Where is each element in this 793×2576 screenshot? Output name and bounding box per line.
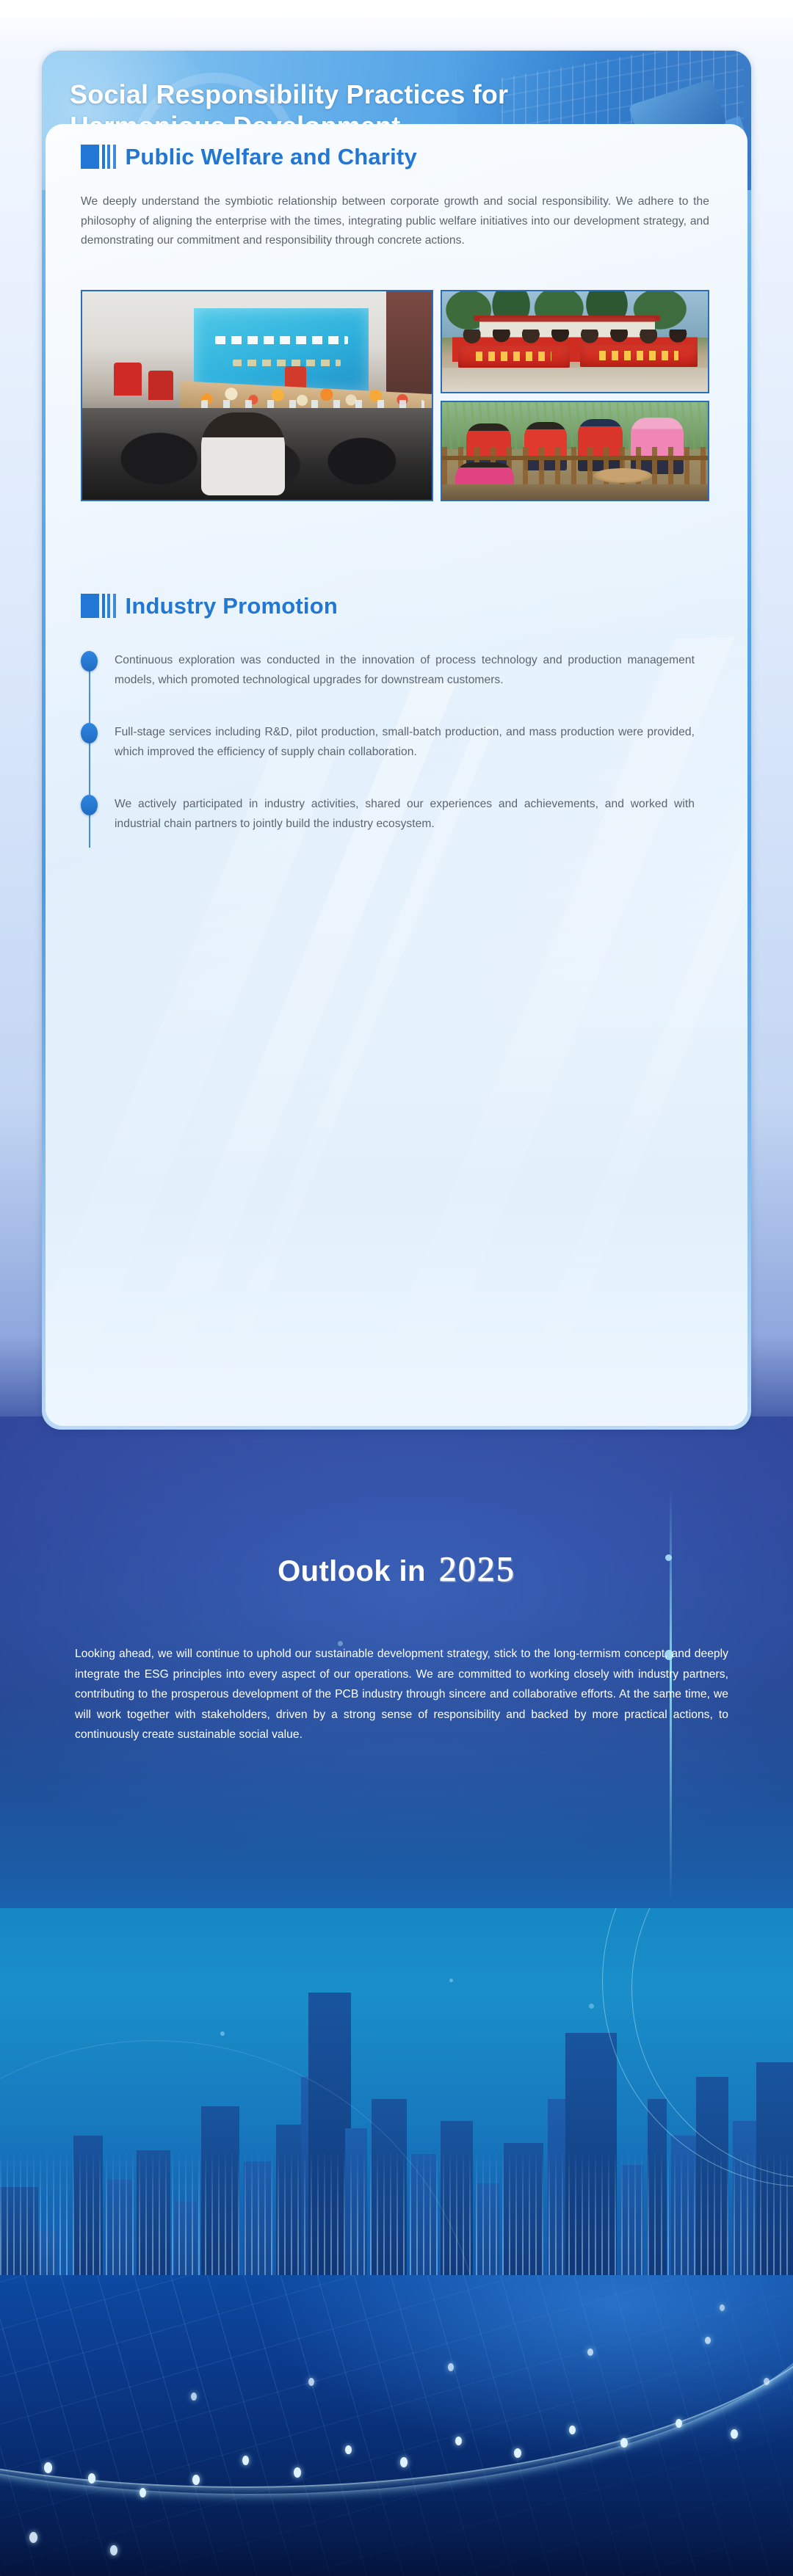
outlook-paragraph: Looking ahead, we will continue to uphol… (75, 1644, 728, 1745)
poster-page: Social Responsibility Practices for Harm… (0, 0, 793, 2576)
section-title-industry-promotion: Industry Promotion (126, 594, 338, 618)
photo-charity-event (81, 290, 433, 501)
bar-block-icon (81, 594, 116, 618)
bar-block-icon (81, 145, 116, 169)
content-panel: Public Welfare and Charity We deeply und… (46, 124, 747, 1426)
section-heading-industry-promotion: Industry Promotion (81, 594, 338, 618)
bullet-dot-icon (81, 723, 98, 743)
industry-promotion-bullets: Continuous exploration was conducted in … (81, 651, 709, 858)
bullet-dot-icon (81, 795, 98, 815)
background-mesh-wave (0, 2275, 793, 2576)
photo-volunteer-planting (441, 401, 709, 501)
photo-volunteer-group (441, 290, 709, 393)
section-title-public-welfare: Public Welfare and Charity (126, 145, 417, 169)
section-heading-public-welfare: Public Welfare and Charity (81, 145, 417, 169)
list-item: Continuous exploration was conducted in … (81, 651, 709, 690)
bullet-text: We actively participated in industry act… (115, 795, 695, 834)
bullet-text: Full-stage services including R&D, pilot… (115, 723, 695, 762)
outlook-heading: Outlook in 2025 (0, 1549, 793, 1590)
public-welfare-paragraph: We deeply understand the symbiotic relat… (81, 192, 709, 251)
photo-grid (81, 290, 709, 501)
list-item: We actively participated in industry act… (81, 795, 709, 834)
list-item: Full-stage services including R&D, pilot… (81, 723, 709, 762)
bullet-text: Continuous exploration was conducted in … (115, 651, 695, 690)
bullet-dot-icon (81, 651, 98, 672)
background-city-skyline (0, 1908, 793, 2319)
outlook-year: 2025 (439, 1549, 515, 1590)
content-card: Social Responsibility Practices for Harm… (42, 51, 751, 1430)
outlook-label: Outlook in (278, 1555, 426, 1588)
